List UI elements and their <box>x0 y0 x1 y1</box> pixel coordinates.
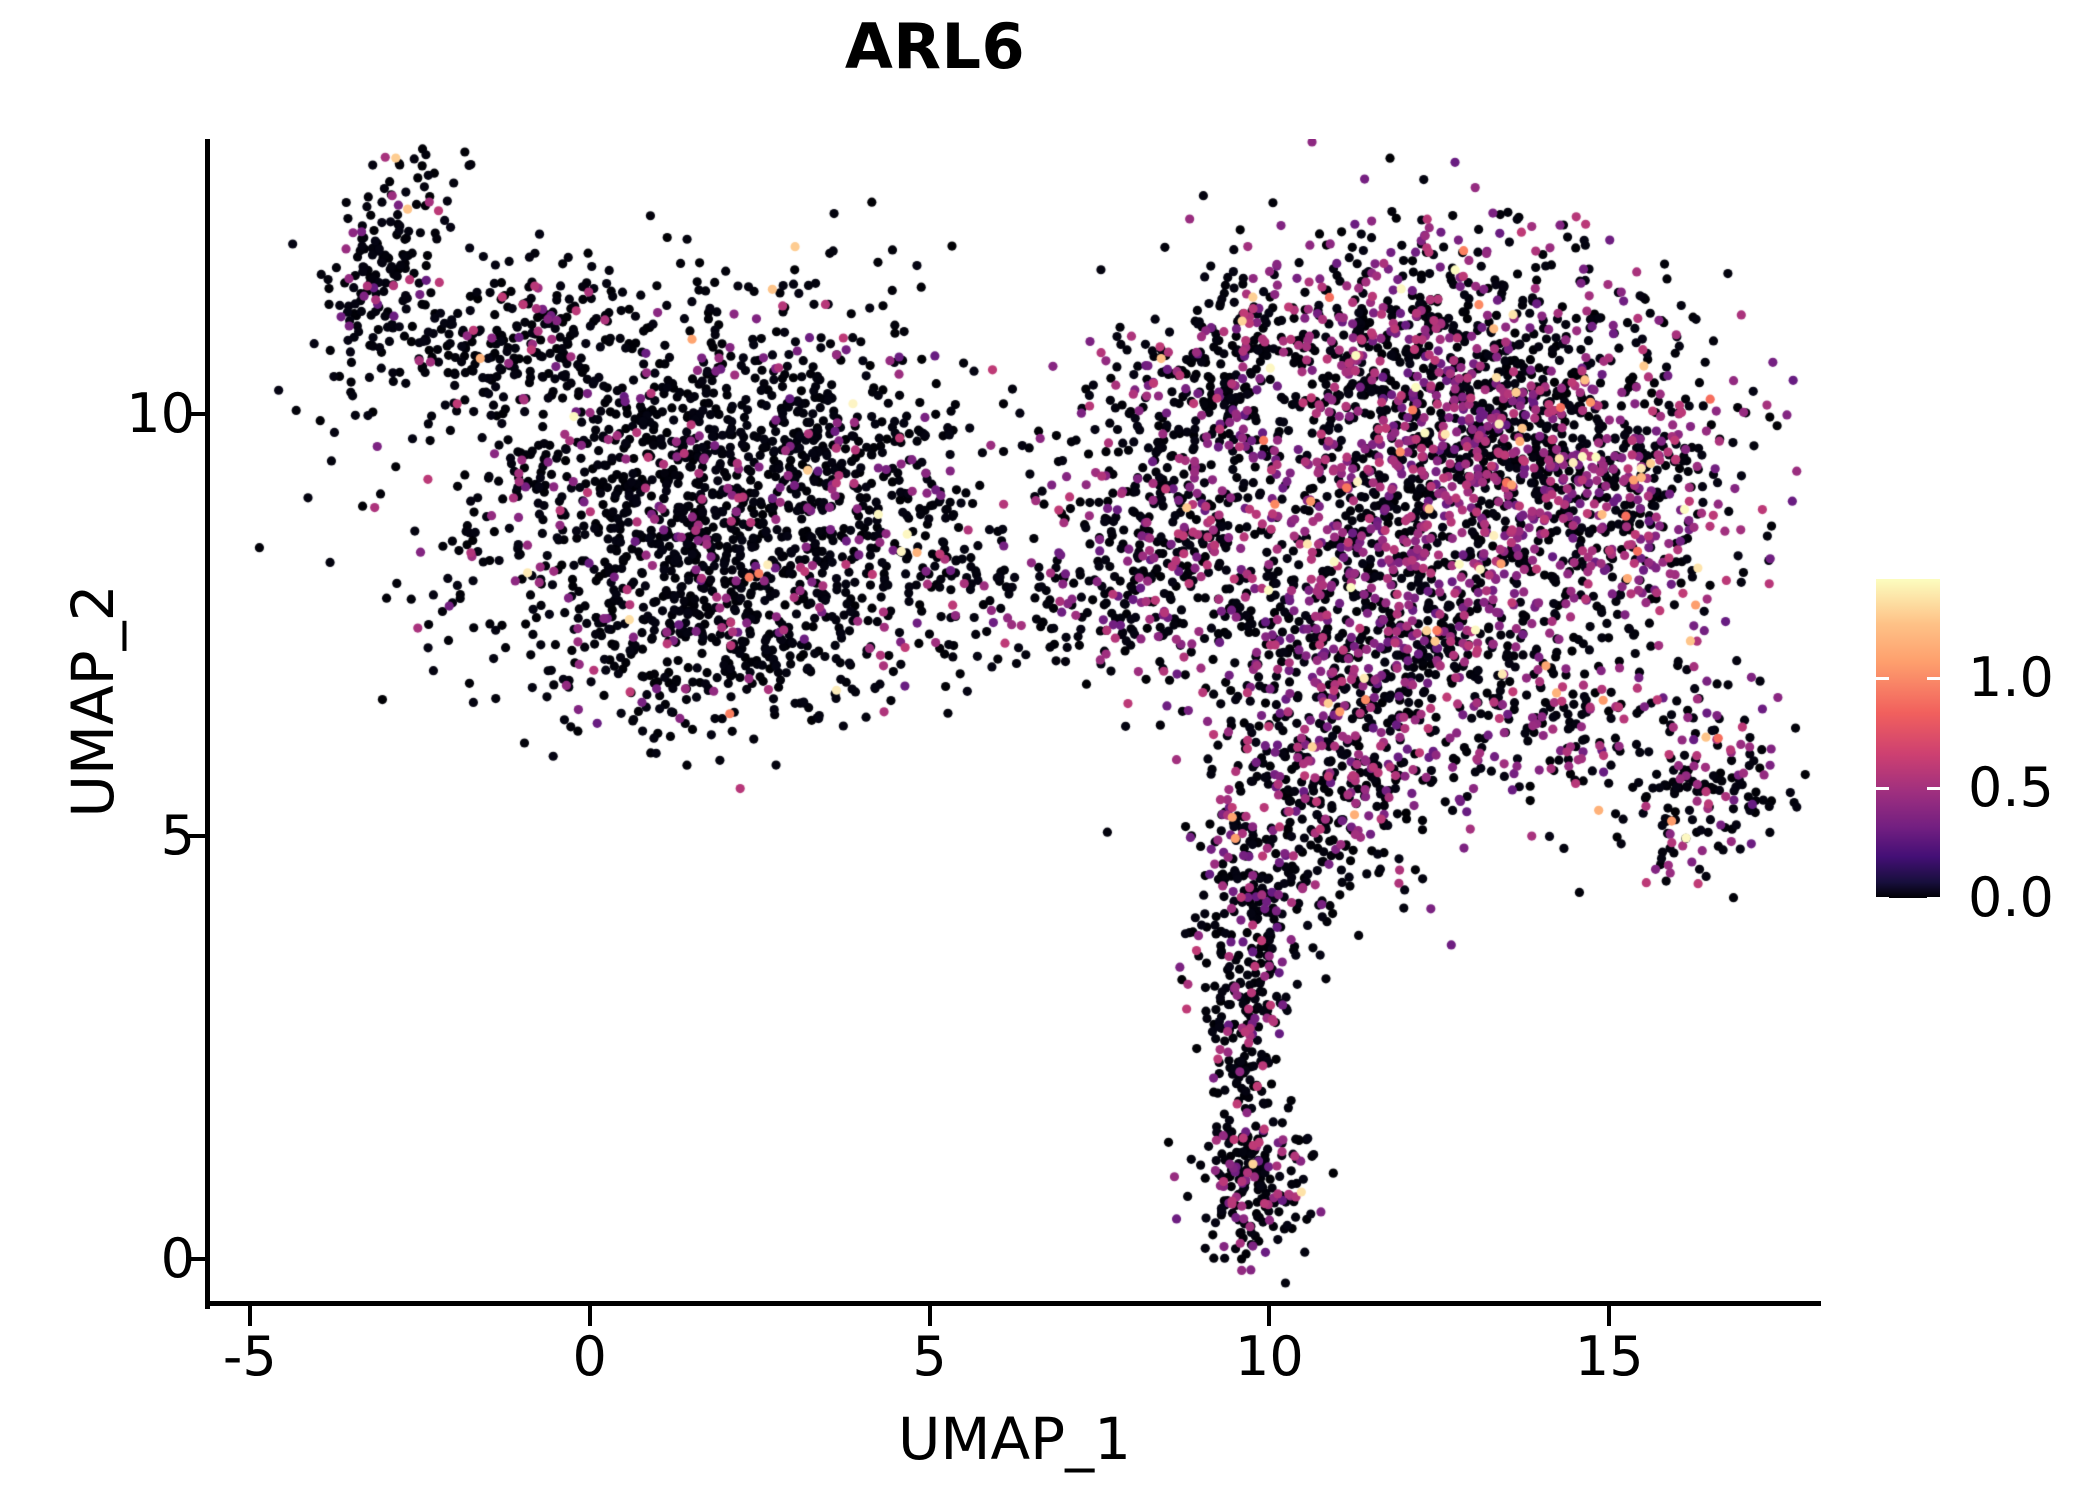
y-tick-label: 10 <box>126 387 195 441</box>
colorbar-tick-mark <box>1876 787 1889 790</box>
scatter-plot-canvas <box>209 139 1820 1305</box>
x-axis-label: UMAP_1 <box>209 1410 1820 1468</box>
x-tick-label: 10 <box>1235 1330 1304 1384</box>
colorbar-tick-mark <box>1876 897 1889 900</box>
colorbar-tick-label: 0.0 <box>1968 871 2054 925</box>
colorbar-tick-mark <box>1927 897 1940 900</box>
colorbar-tick-mark <box>1927 677 1940 680</box>
x-tick-label: -5 <box>223 1330 277 1384</box>
x-tick-mark <box>928 1306 932 1326</box>
y-tick-label: 0 <box>161 1232 195 1286</box>
colorbar-tick-mark <box>1876 677 1889 680</box>
x-tick-mark <box>1607 1306 1611 1326</box>
x-tick-mark <box>248 1306 252 1326</box>
x-tick-mark <box>1267 1306 1271 1326</box>
page-title: ARL6 <box>0 16 1870 78</box>
y-axis-label: UMAP_2 <box>64 118 122 1284</box>
colorbar-legend: 0.00.51.0 <box>1876 579 2096 901</box>
x-tick-label: 0 <box>572 1330 606 1384</box>
colorbar-tick-mark <box>1927 787 1940 790</box>
x-tick-label: 15 <box>1575 1330 1644 1384</box>
colorbar-tick-label: 0.5 <box>1968 761 2054 815</box>
x-tick-label: 5 <box>912 1330 946 1384</box>
x-tick-mark <box>588 1306 592 1326</box>
colorbar-gradient <box>1876 579 1940 898</box>
colorbar-tick-label: 1.0 <box>1968 651 2054 705</box>
umap-feature-plot: ARL6 -5051015 0510 UMAP_1 UMAP_2 0.00.51… <box>0 0 2100 1500</box>
y-tick-label: 5 <box>161 809 195 863</box>
